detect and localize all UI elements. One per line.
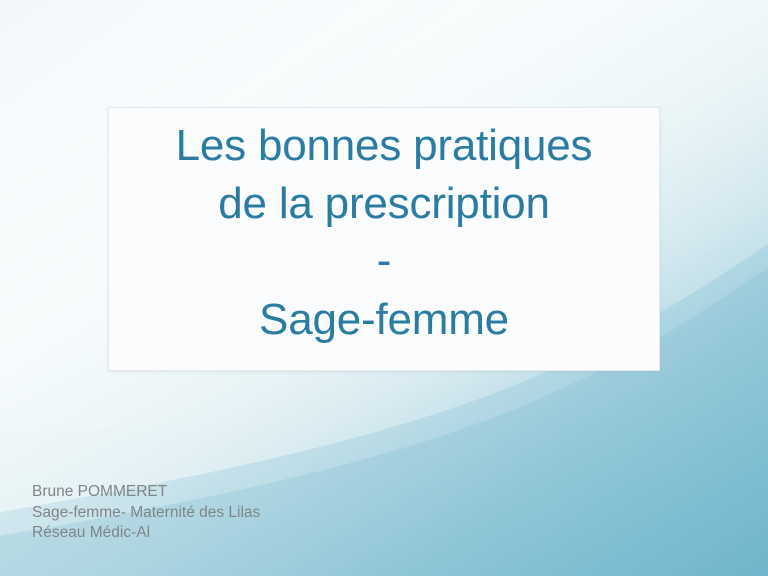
title-line-2: de la prescription bbox=[109, 175, 659, 233]
author-footer: Brune POMMERET Sage-femme- Maternité des… bbox=[32, 482, 462, 544]
title-line-separator: - bbox=[109, 233, 659, 289]
author-affiliation: Sage-femme- Maternité des Lilas bbox=[32, 503, 462, 524]
presentation-slide: Les bonnes pratiques de la prescription … bbox=[0, 0, 768, 576]
title-text-box: Les bonnes pratiques de la prescription … bbox=[108, 107, 660, 371]
author-name: Brune POMMERET bbox=[32, 482, 462, 503]
author-network: Réseau Médic-Al bbox=[32, 523, 462, 544]
title-line-4: Sage-femme bbox=[109, 289, 659, 351]
title-line-1: Les bonnes pratiques bbox=[109, 117, 659, 175]
